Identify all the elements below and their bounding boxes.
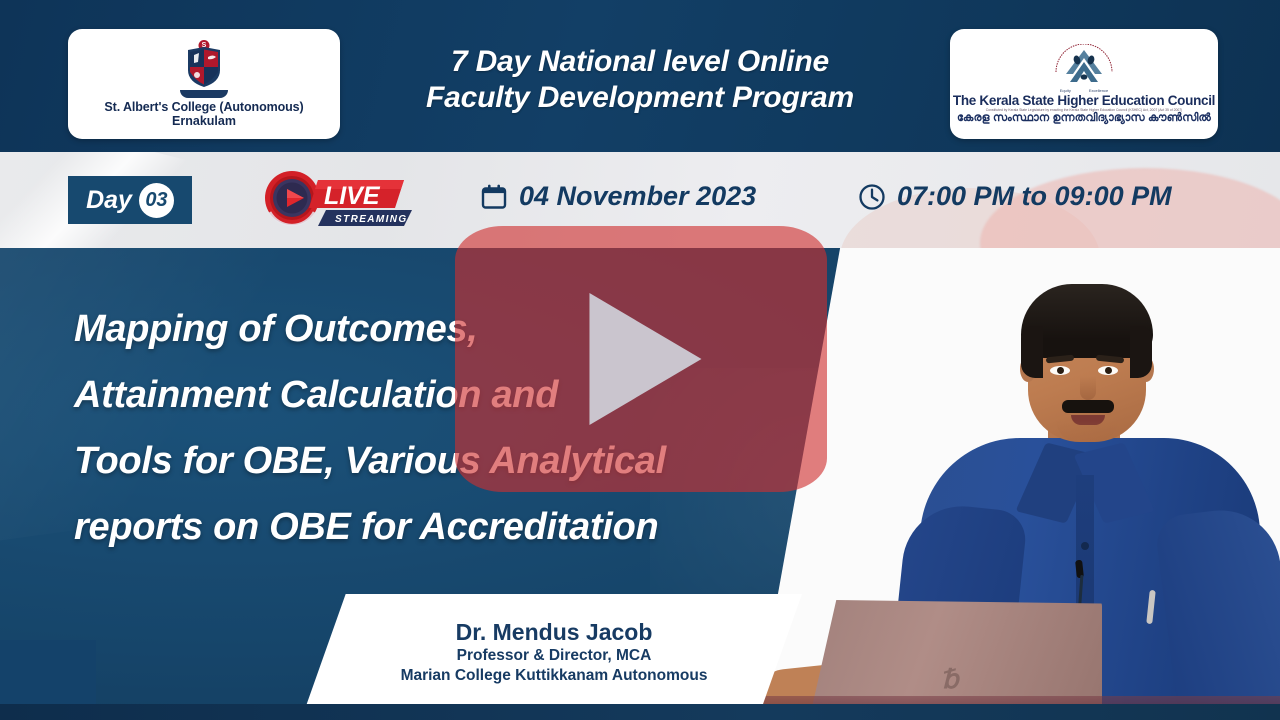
portrait-nose: [1080, 376, 1096, 400]
kshec-fine-print: Constituted by Kerala State Legislature …: [986, 107, 1183, 111]
youtube-play-icon[interactable]: [455, 226, 827, 492]
program-title-line2: Faculty Development Program: [426, 81, 854, 114]
session-title-line-4: reports on OBE for Accreditation: [74, 494, 774, 560]
kshec-name-malayalam: കേരള സംസ്ഥാന ഉന്നതവിദ്യാഭ്യാസ കൗൺസിൽ: [957, 112, 1211, 125]
program-title: 7 Day National level Online Faculty Deve…: [340, 44, 940, 116]
speaker-name-panel: Dr. Mendus Jacob Professor & Director, M…: [306, 594, 802, 706]
portrait-shirt-button-1: [1081, 542, 1089, 550]
day-label: Day: [86, 186, 132, 215]
college-logo-card: S St. Albert's College (Autonomous: [68, 29, 340, 139]
crest-ribbon: [180, 90, 228, 98]
kshec-emblem-icon: [1048, 44, 1120, 88]
event-date: 04 November 2023: [480, 181, 756, 212]
bottom-strip: [0, 704, 1280, 720]
college-name: St. Albert's College (Autonomous): [104, 100, 303, 114]
speaker-name: Dr. Mendus Jacob: [456, 618, 653, 646]
speaker-organization: Marian College Kuttikkanam Autonomous: [401, 666, 708, 686]
day-badge: Day 03: [68, 176, 192, 224]
day-number: 03: [139, 183, 174, 218]
kshec-name: The Kerala State Higher Education Counci…: [953, 93, 1215, 108]
portrait-hair-side-left: [1021, 326, 1043, 378]
college-place: Ernakulam: [172, 114, 236, 128]
event-time-text: 07:00 PM to 09:00 PM: [897, 181, 1172, 212]
portrait-moustache: [1062, 400, 1114, 413]
portrait-eye-left: [1050, 366, 1070, 375]
speaker-photo-panel: ␢: [750, 248, 1280, 720]
speaker-role: Professor & Director, MCA: [457, 646, 652, 666]
program-title-line1: 7 Day National level Online: [451, 45, 829, 78]
college-crest-icon: S: [177, 40, 231, 98]
bottom-left-accent: [0, 640, 96, 706]
header-band: S St. Albert's College (Autonomous: [0, 0, 1280, 152]
event-date-text: 04 November 2023: [519, 181, 756, 212]
broadcast-thumbnail: S St. Albert's College (Autonomous: [0, 0, 1280, 720]
laptop-brand-logo: ␢: [942, 664, 974, 692]
portrait-hair-side-right: [1130, 326, 1152, 378]
portrait-eye-right: [1098, 366, 1118, 375]
event-time: 07:00 PM to 09:00 PM: [858, 181, 1172, 212]
calendar-icon: [480, 183, 508, 211]
kshec-logo-card: Equity Excellence The Kerala State Highe…: [950, 29, 1218, 139]
streaming-label: STREAMING: [335, 214, 408, 225]
live-label: LIVE: [324, 182, 381, 210]
live-streaming-icon: LIVE STREAMING: [262, 168, 412, 230]
play-triangle-icon: [589, 293, 701, 425]
clock-icon: [858, 183, 886, 211]
